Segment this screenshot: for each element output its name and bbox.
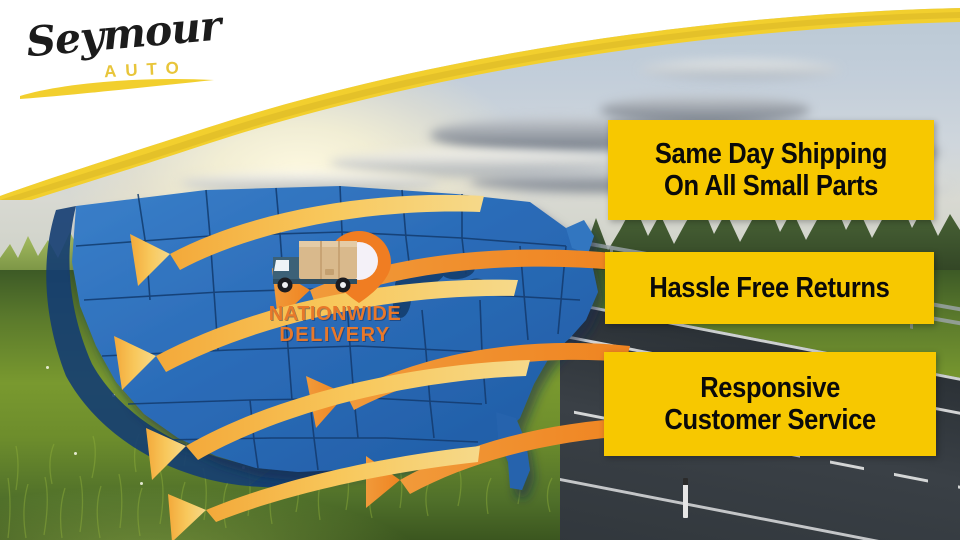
roadside-marker-post xyxy=(683,478,688,518)
promo-banner: Seymour AUTO xyxy=(0,0,960,540)
callout-responsive-customer-service[interactable]: Responsive Customer Service xyxy=(604,352,936,456)
nationwide-delivery-caption: NATIONWIDE DELIVERY xyxy=(255,304,415,346)
caption-line-1: NATIONWIDE xyxy=(269,303,401,325)
delivery-truck-icon xyxy=(273,241,357,293)
callout-1-line-1: Same Day Shipping xyxy=(655,138,887,170)
callout-hassle-free-returns[interactable]: Hassle Free Returns xyxy=(605,252,934,324)
callout-2-line-1: Hassle Free Returns xyxy=(649,272,889,304)
callout-3-line-2: Customer Service xyxy=(664,404,875,436)
logo-script-text: Seymour xyxy=(24,2,222,67)
caption-line-2: DELIVERY xyxy=(255,325,415,346)
nationwide-delivery-badge: NATIONWIDE DELIVERY xyxy=(255,225,415,365)
callout-1-line-2: On All Small Parts xyxy=(655,170,887,202)
seymour-auto-logo[interactable]: Seymour AUTO xyxy=(18,8,218,100)
callout-3-line-1: Responsive xyxy=(664,372,875,404)
callout-same-day-shipping[interactable]: Same Day Shipping On All Small Parts xyxy=(608,120,934,220)
